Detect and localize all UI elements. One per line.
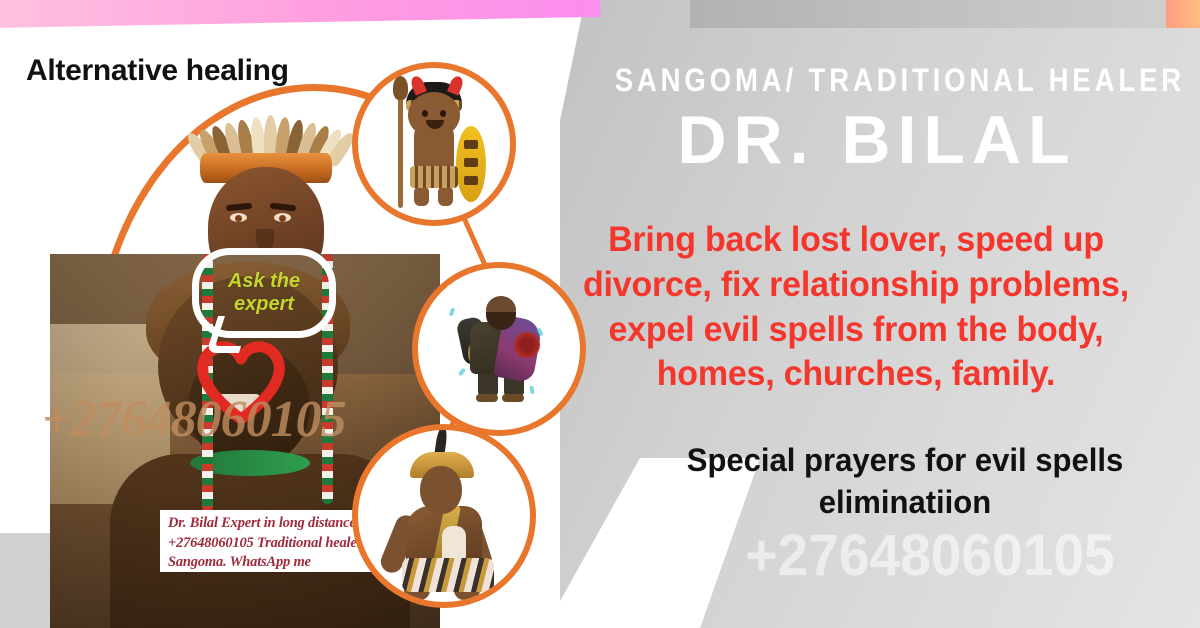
- spear-icon: [398, 86, 403, 208]
- top-bar-orange-segment: [1166, 0, 1200, 28]
- shield-icon: [456, 126, 486, 202]
- healer-figure: [462, 296, 536, 400]
- warrior-leg-left: [414, 186, 429, 206]
- warrior-leg-right: [438, 186, 453, 206]
- healer-name: DR. BILAL: [572, 105, 1182, 176]
- page-title: Alternative healing: [26, 54, 289, 88]
- dancer-head: [420, 466, 462, 514]
- phone-watermark: +27648060105: [664, 522, 1196, 589]
- eyebrow-left: [226, 203, 252, 212]
- eye-right: [274, 213, 291, 222]
- top-decorative-bar: [0, 0, 1200, 30]
- circle-illustration-healer: [412, 262, 586, 436]
- promotional-poster: Alternative healing: [0, 0, 1200, 628]
- speech-bubble-text: Ask the expert: [199, 270, 329, 316]
- poster-kicker: SANGOMA/ TRADITIONAL HEALER: [615, 62, 1140, 99]
- special-offer-text: Special prayers for evil spells eliminat…: [619, 440, 1191, 523]
- speech-bubble: Ask the expert: [192, 248, 336, 338]
- eyebrow-right: [270, 203, 296, 212]
- circle-illustration-warrior: [352, 62, 516, 226]
- circle-illustration-dancer: [352, 424, 536, 608]
- healer-emblem: [514, 332, 540, 358]
- dancer-skirt: [402, 558, 494, 592]
- top-bar-gray-segment: [690, 0, 1170, 28]
- eye-left: [230, 213, 247, 222]
- spear-head-icon: [393, 76, 408, 100]
- top-bar-pink-segment: [0, 0, 601, 28]
- warrior-head: [408, 92, 460, 138]
- warrior-skirt: [410, 166, 458, 188]
- services-text: Bring back lost lover, speed up divorce,…: [546, 218, 1167, 397]
